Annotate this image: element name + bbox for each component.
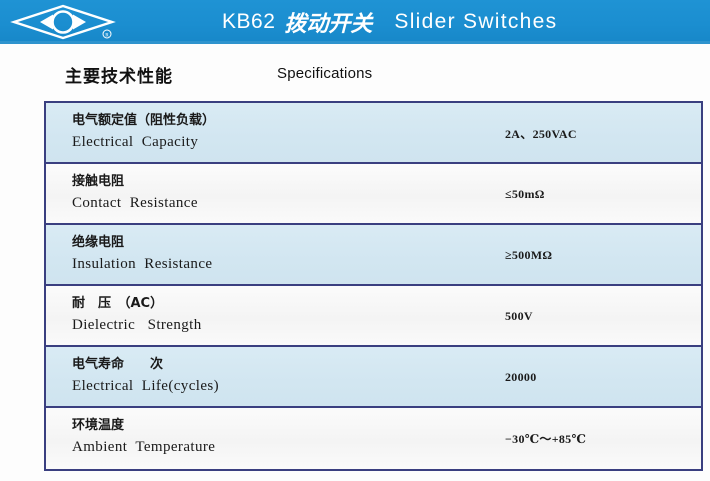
spec-label: 电气额定值（阻性负载） Electrical Capacity	[72, 111, 512, 153]
spec-label: 绝缘电阻 Insulation Resistance	[72, 233, 512, 275]
spec-label-cn: 绝缘电阻	[72, 233, 512, 253]
spec-label: 耐 压 （AC） Dielectric Strength	[72, 294, 512, 336]
spec-value: ≤50mΩ	[505, 164, 545, 225]
spec-label: 环境温度 Ambient Temperature	[72, 416, 512, 458]
spec-label-en: Insulation Resistance	[72, 253, 512, 275]
header-title: KB62 拨动开关 Slider Switches	[222, 0, 557, 44]
section-heading-cn: 主要技术性能	[65, 62, 173, 87]
spec-label-cn: 接触电阻	[72, 172, 512, 192]
spec-label-en: Ambient Temperature	[72, 436, 512, 458]
table-row: 耐 压 （AC） Dielectric Strength 500V	[46, 286, 701, 347]
specifications-table: 电气额定值（阻性负载） Electrical Capacity 2A、250VA…	[44, 101, 703, 471]
spec-value: 500V	[505, 286, 533, 347]
spec-label-cn: 电气额定值（阻性负载）	[72, 111, 512, 131]
spec-label-cn: 环境温度	[72, 416, 512, 436]
spec-value: ≥500MΩ	[505, 225, 552, 286]
table-row: 电气寿命 次 Electrical Life(cycles) 20000	[46, 347, 701, 408]
section-heading-en: Specifications	[277, 65, 372, 82]
page-header-band: R KB62 拨动开关 Slider Switches	[0, 0, 710, 44]
spec-label-cn: 电气寿命 次	[72, 355, 512, 375]
table-row: 绝缘电阻 Insulation Resistance ≥500MΩ	[46, 225, 701, 286]
spec-value: 2A、250VAC	[505, 103, 577, 164]
product-model-label: KB62	[222, 10, 275, 34]
company-diamond-logo: R	[8, 3, 118, 41]
spec-label-cn: 耐 压 （AC）	[72, 294, 512, 314]
spec-label-en: Contact Resistance	[72, 192, 512, 214]
table-row: 接触电阻 Contact Resistance ≤50mΩ	[46, 164, 701, 225]
svg-text:R: R	[105, 33, 109, 39]
spec-label-en: Dielectric Strength	[72, 314, 512, 336]
spec-label-en: Electrical Life(cycles)	[72, 375, 512, 397]
spec-label-en: Electrical Capacity	[72, 131, 512, 153]
spec-label: 接触电阻 Contact Resistance	[72, 172, 512, 214]
spec-label: 电气寿命 次 Electrical Life(cycles)	[72, 355, 512, 397]
section-heading: 主要技术性能 Specifications	[0, 62, 710, 92]
table-row: 环境温度 Ambient Temperature −30℃～+85℃	[46, 408, 701, 469]
product-title-cn: 拨动开关	[284, 6, 372, 38]
spec-value: 20000	[505, 347, 537, 408]
table-row: 电气额定值（阻性负载） Electrical Capacity 2A、250VA…	[46, 103, 701, 164]
spec-value: −30℃～+85℃	[505, 408, 586, 469]
product-title-en: Slider Switches	[394, 10, 557, 34]
